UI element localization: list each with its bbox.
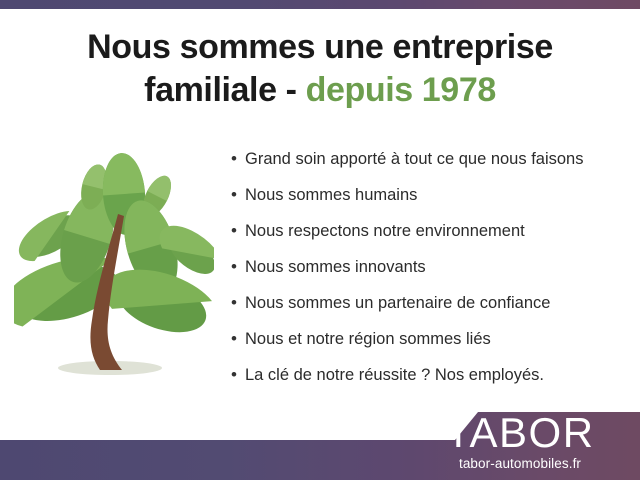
list-item-label: Grand soin apporté à tout ce que nous fa… [245,148,583,170]
list-item-label: Nous respectons notre environnement [245,220,525,242]
title-line-1: Nous sommes une entreprise [0,26,640,69]
bullet-dot-icon: • [231,220,245,242]
list-item: • Nous sommes humains [231,184,631,220]
top-accent-bar [0,0,640,9]
title-line-2: familiale -depuis 1978 [0,69,640,112]
title-line-2-green: depuis 1978 [306,71,496,109]
title-line-2-black: familiale - [144,71,296,109]
bullet-dot-icon: • [231,256,245,278]
list-item: • Nous et notre région sommes liés [231,328,631,364]
tree-illustration [14,152,214,384]
list-item-label: Nous sommes un partenaire de confiance [245,292,550,314]
list-item-label: Nous et notre région sommes liés [245,328,491,350]
brand-logo[interactable]: TABOR tabor-automobiles.fr [412,412,628,472]
slide-canvas: Nous sommes une entreprise familiale -de… [0,0,640,480]
bullet-dot-icon: • [231,292,245,314]
bullet-dot-icon: • [231,148,245,170]
list-item: • Grand soin apporté à tout ce que nous … [231,148,631,184]
list-item-label: Nous sommes humains [245,184,417,206]
list-item-label: Nous sommes innovants [245,256,426,278]
bullet-dot-icon: • [231,328,245,350]
logo-wordmark: TABOR [412,412,628,454]
list-item: • Nous sommes innovants [231,256,631,292]
bullet-dot-icon: • [231,184,245,206]
bullet-list: • Grand soin apporté à tout ce que nous … [231,148,631,400]
logo-website: tabor-automobiles.fr [412,455,628,472]
footer-banner: TABOR tabor-automobiles.fr [0,400,640,480]
bullet-dot-icon: • [231,364,245,386]
list-item: • Nous respectons notre environnement [231,220,631,256]
list-item-label: La clé de notre réussite ? Nos employés. [245,364,544,386]
list-item: • Nous sommes un partenaire de confiance [231,292,631,328]
page-title: Nous sommes une entreprise familiale -de… [0,26,640,112]
list-item: • La clé de notre réussite ? Nos employé… [231,364,631,400]
